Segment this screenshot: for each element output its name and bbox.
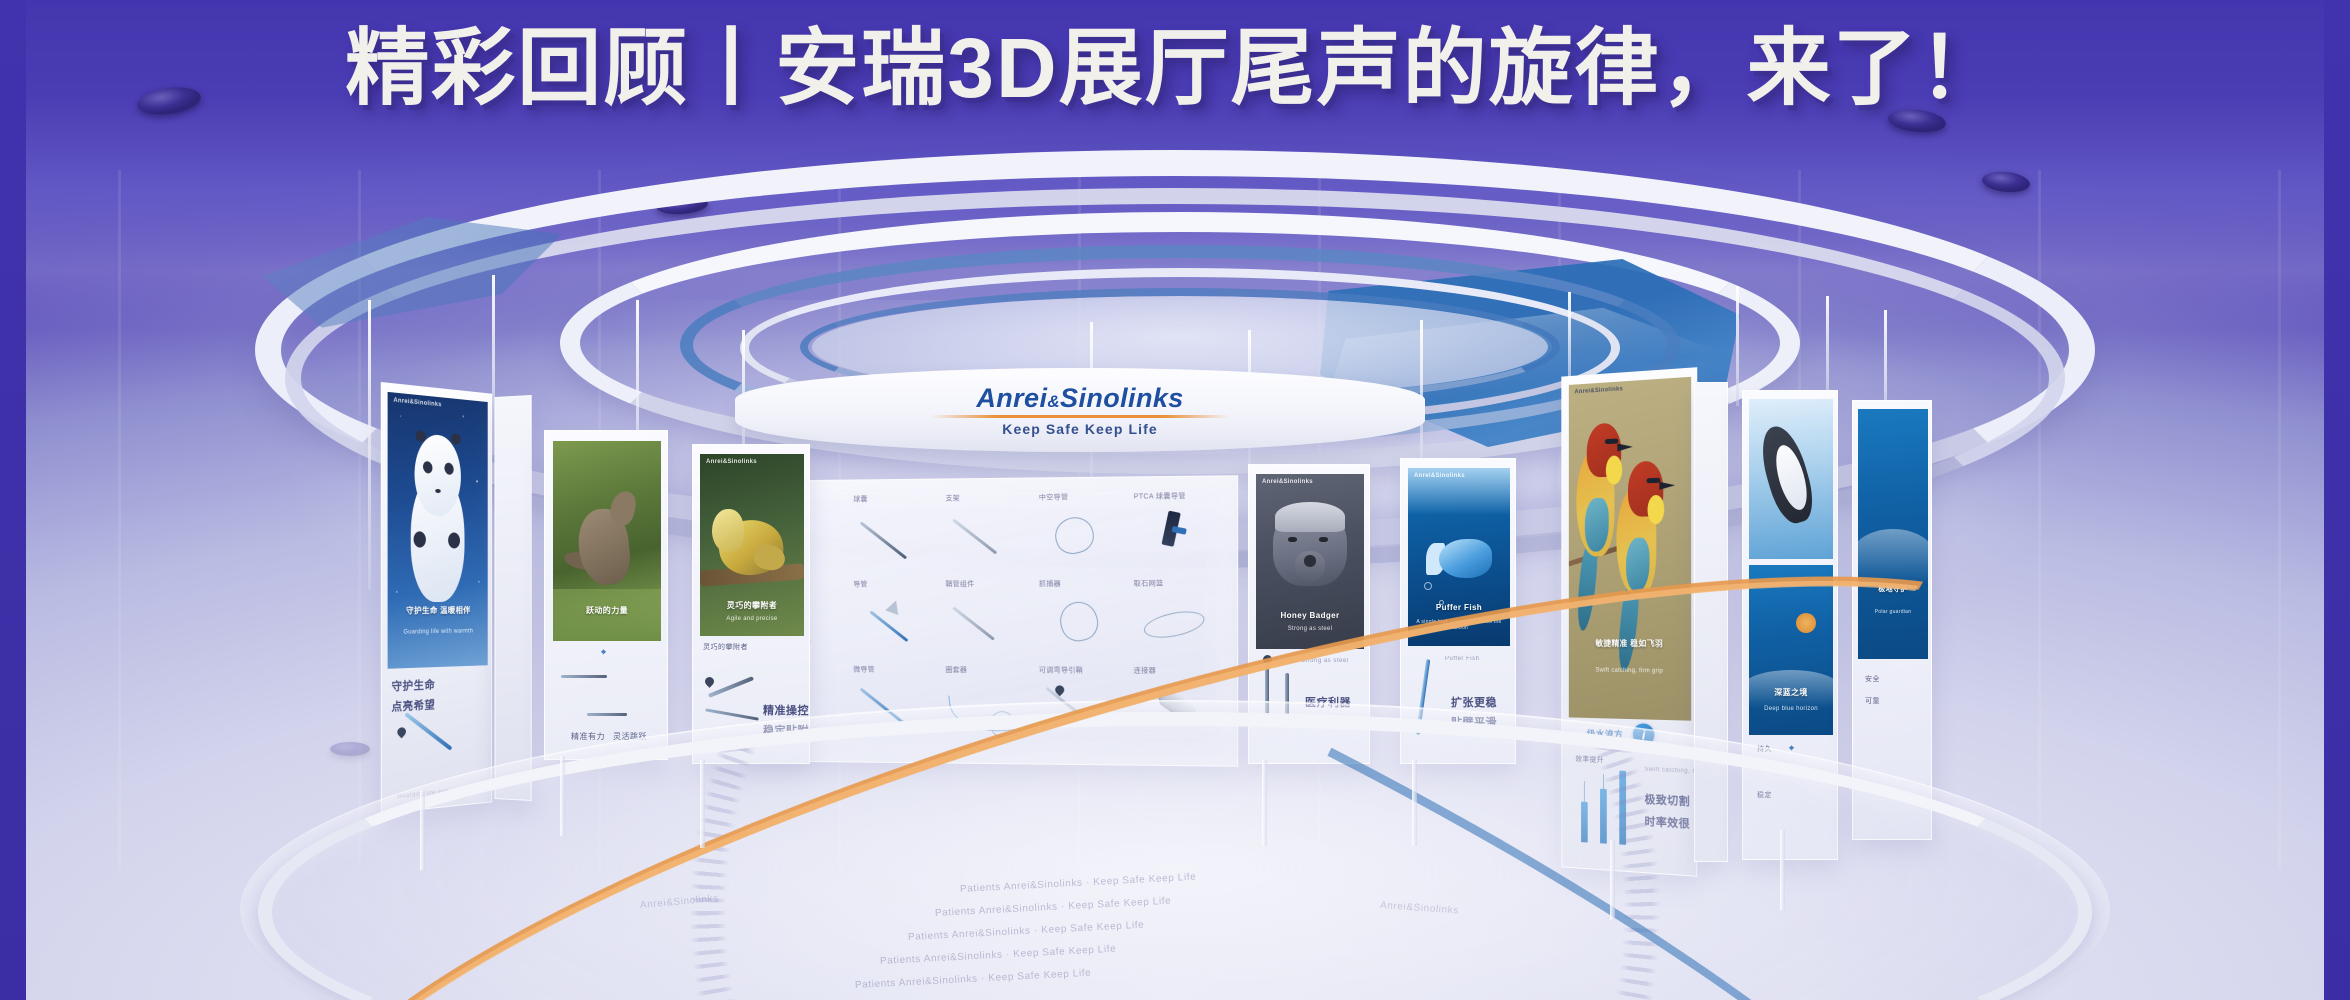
- product-cell[interactable]: 中空导管: [1036, 492, 1129, 577]
- poster-kangaroo: 跃动的力量: [553, 441, 661, 641]
- bird-throat-icon: [1647, 494, 1664, 524]
- product-label: 微导管: [853, 665, 874, 675]
- frame-border-top: [0, 0, 2350, 4]
- poster-title: 守护生命 温暖相伴: [388, 605, 488, 617]
- ceiling-spotlight-icon: [330, 742, 370, 756]
- poster-title: Honey Badger: [1256, 611, 1364, 620]
- device-tip-icon: [703, 675, 716, 688]
- poster-frog: Anrei&Sinolinks 灵巧的攀附者 Agile and precise: [700, 454, 804, 636]
- poster-caption-line: 点亮希望: [392, 697, 436, 716]
- product-illustration-stent: [946, 506, 1029, 576]
- product-label: 抓捕器: [1039, 579, 1061, 589]
- panda-ear-icon: [451, 433, 461, 445]
- product-label: 圈套器: [945, 665, 967, 675]
- bubble-icon: [1424, 582, 1432, 590]
- support-post: [1610, 840, 1615, 920]
- poster-brand-label: Anrei&Sinolinks: [1414, 473, 1465, 479]
- poster-honey-badger: Anrei&Sinolinks Honey Badger Strong as s…: [1256, 474, 1364, 649]
- brand-logo-band: Anrei&Sinolinks Keep Safe Keep Life: [735, 368, 1425, 452]
- bird-beak-icon: [1659, 481, 1675, 490]
- product-cell[interactable]: PTCA 球囊导管: [1131, 491, 1225, 577]
- bird-beak-icon: [1617, 442, 1632, 451]
- product-cell[interactable]: 导管: [850, 579, 940, 663]
- poster-title: 灵巧的攀附者: [700, 600, 804, 611]
- poster-subtitle: Strong as steel: [1256, 626, 1364, 632]
- brand-mini-icon: ⌖: [601, 647, 606, 658]
- support-post: [560, 756, 565, 836]
- badger-cap-icon: [1275, 502, 1344, 532]
- device-tip-icon: [396, 725, 408, 738]
- product-label: 球囊: [853, 494, 867, 504]
- support-post: [700, 760, 705, 848]
- product-cell[interactable]: 取石网篮: [1131, 578, 1225, 664]
- badger-eye-icon: [1288, 537, 1297, 542]
- exhibition-hero-banner: Anrei&Sinolinks Keep Safe Keep Life 导丝类 …: [0, 0, 2350, 1000]
- brand-logo-primary: Anrei: [976, 383, 1047, 413]
- frog-head-icon: [712, 509, 743, 553]
- brand-logo-underline: [930, 415, 1230, 418]
- product-label: 鞘管组件: [945, 579, 974, 589]
- poster-panel-panda-side: [495, 395, 532, 801]
- product-illustration-connector: [1135, 504, 1221, 575]
- product-illustration-snare-loop: [1040, 505, 1125, 575]
- device-illustration: [708, 676, 754, 698]
- bird-wing-icon: [1585, 498, 1609, 553]
- page-title: 精彩回顾丨安瑞3D展厅尾声的旋律，来了！: [0, 26, 2350, 110]
- support-post: [1262, 760, 1267, 846]
- product-illustration-balloon: [854, 506, 936, 575]
- hanging-rod: [1736, 286, 1739, 406]
- product-illustration-sheath: [946, 592, 1029, 661]
- product-label: 可调弯导引鞘: [1039, 665, 1083, 675]
- support-post: [1412, 760, 1417, 846]
- badger-eye-icon: [1319, 537, 1328, 542]
- product-cell[interactable]: 球囊: [850, 493, 940, 577]
- frame-border-left: [0, 0, 26, 1000]
- product-label: 导管: [853, 579, 867, 589]
- product-illustration-grasper: [1040, 592, 1125, 662]
- panda-arm-icon: [448, 532, 460, 548]
- product-label: 支架: [945, 493, 959, 503]
- brand-logo-text: Anrei&Sinolinks: [976, 383, 1183, 414]
- poster-panda: Anrei&Sinolinks 守护生命 温暖相伴 Guarding life …: [388, 392, 488, 669]
- poster-caption-line: 守护生命: [392, 677, 436, 696]
- poster-panel-frog[interactable]: Anrei&Sinolinks 灵巧的攀附者 Agile and precise…: [692, 444, 810, 764]
- poster-brand-label: Anrei&Sinolinks: [1262, 479, 1313, 485]
- badger-nose-icon: [1304, 555, 1317, 567]
- poster-brand-label: Anrei&Sinolinks: [706, 459, 757, 465]
- product-cell[interactable]: 支架: [942, 493, 1033, 578]
- product-label: PTCA 球囊导管: [1134, 491, 1186, 502]
- product-cell[interactable]: 抓捕器: [1036, 579, 1129, 664]
- brand-logo-amp: &: [1047, 392, 1060, 411]
- wave-icon: [1858, 529, 1928, 584]
- brand-logo-secondary: Sinolinks: [1060, 383, 1184, 413]
- support-post: [1780, 830, 1785, 910]
- poster-title: 跃动的力量: [553, 605, 661, 616]
- hanging-rod: [368, 300, 371, 590]
- device-illustration: [561, 675, 607, 678]
- product-illustration-stone-basket: [1135, 591, 1221, 661]
- puffer-fish-icon: [1439, 539, 1492, 578]
- brand-tagline: Keep Safe Keep Life: [1002, 421, 1158, 437]
- poster-panel-kangaroo[interactable]: 跃动的力量 ⌖ 精准有力 灵活跳跃: [544, 430, 668, 760]
- frame-border-right: [2324, 0, 2350, 1000]
- panda-nose-icon: [435, 489, 441, 493]
- product-label: 中空导管: [1039, 492, 1068, 502]
- device-illustration: [705, 708, 759, 720]
- device-illustration: [404, 712, 452, 751]
- panda-arm-icon: [414, 531, 426, 548]
- product-illustration-catheter: [854, 592, 936, 661]
- device-illustration: [587, 713, 627, 716]
- support-post: [420, 790, 425, 870]
- product-label: 连接器: [1134, 665, 1156, 675]
- poster-caption-line: 精准有力: [571, 731, 605, 743]
- poster-footnote: 灵巧的攀附者: [703, 643, 748, 654]
- product-cell[interactable]: 鞘管组件: [942, 579, 1033, 663]
- poster-penguin: [1749, 399, 1833, 559]
- poster-subtitle: Agile and precise: [700, 616, 804, 622]
- product-label: 取石网篮: [1134, 578, 1164, 588]
- poster-panel-panda[interactable]: Anrei&Sinolinks 守护生命 温暖相伴 Guarding life …: [381, 382, 492, 814]
- poster-brand-label: Anrei&Sinolinks: [1574, 386, 1623, 395]
